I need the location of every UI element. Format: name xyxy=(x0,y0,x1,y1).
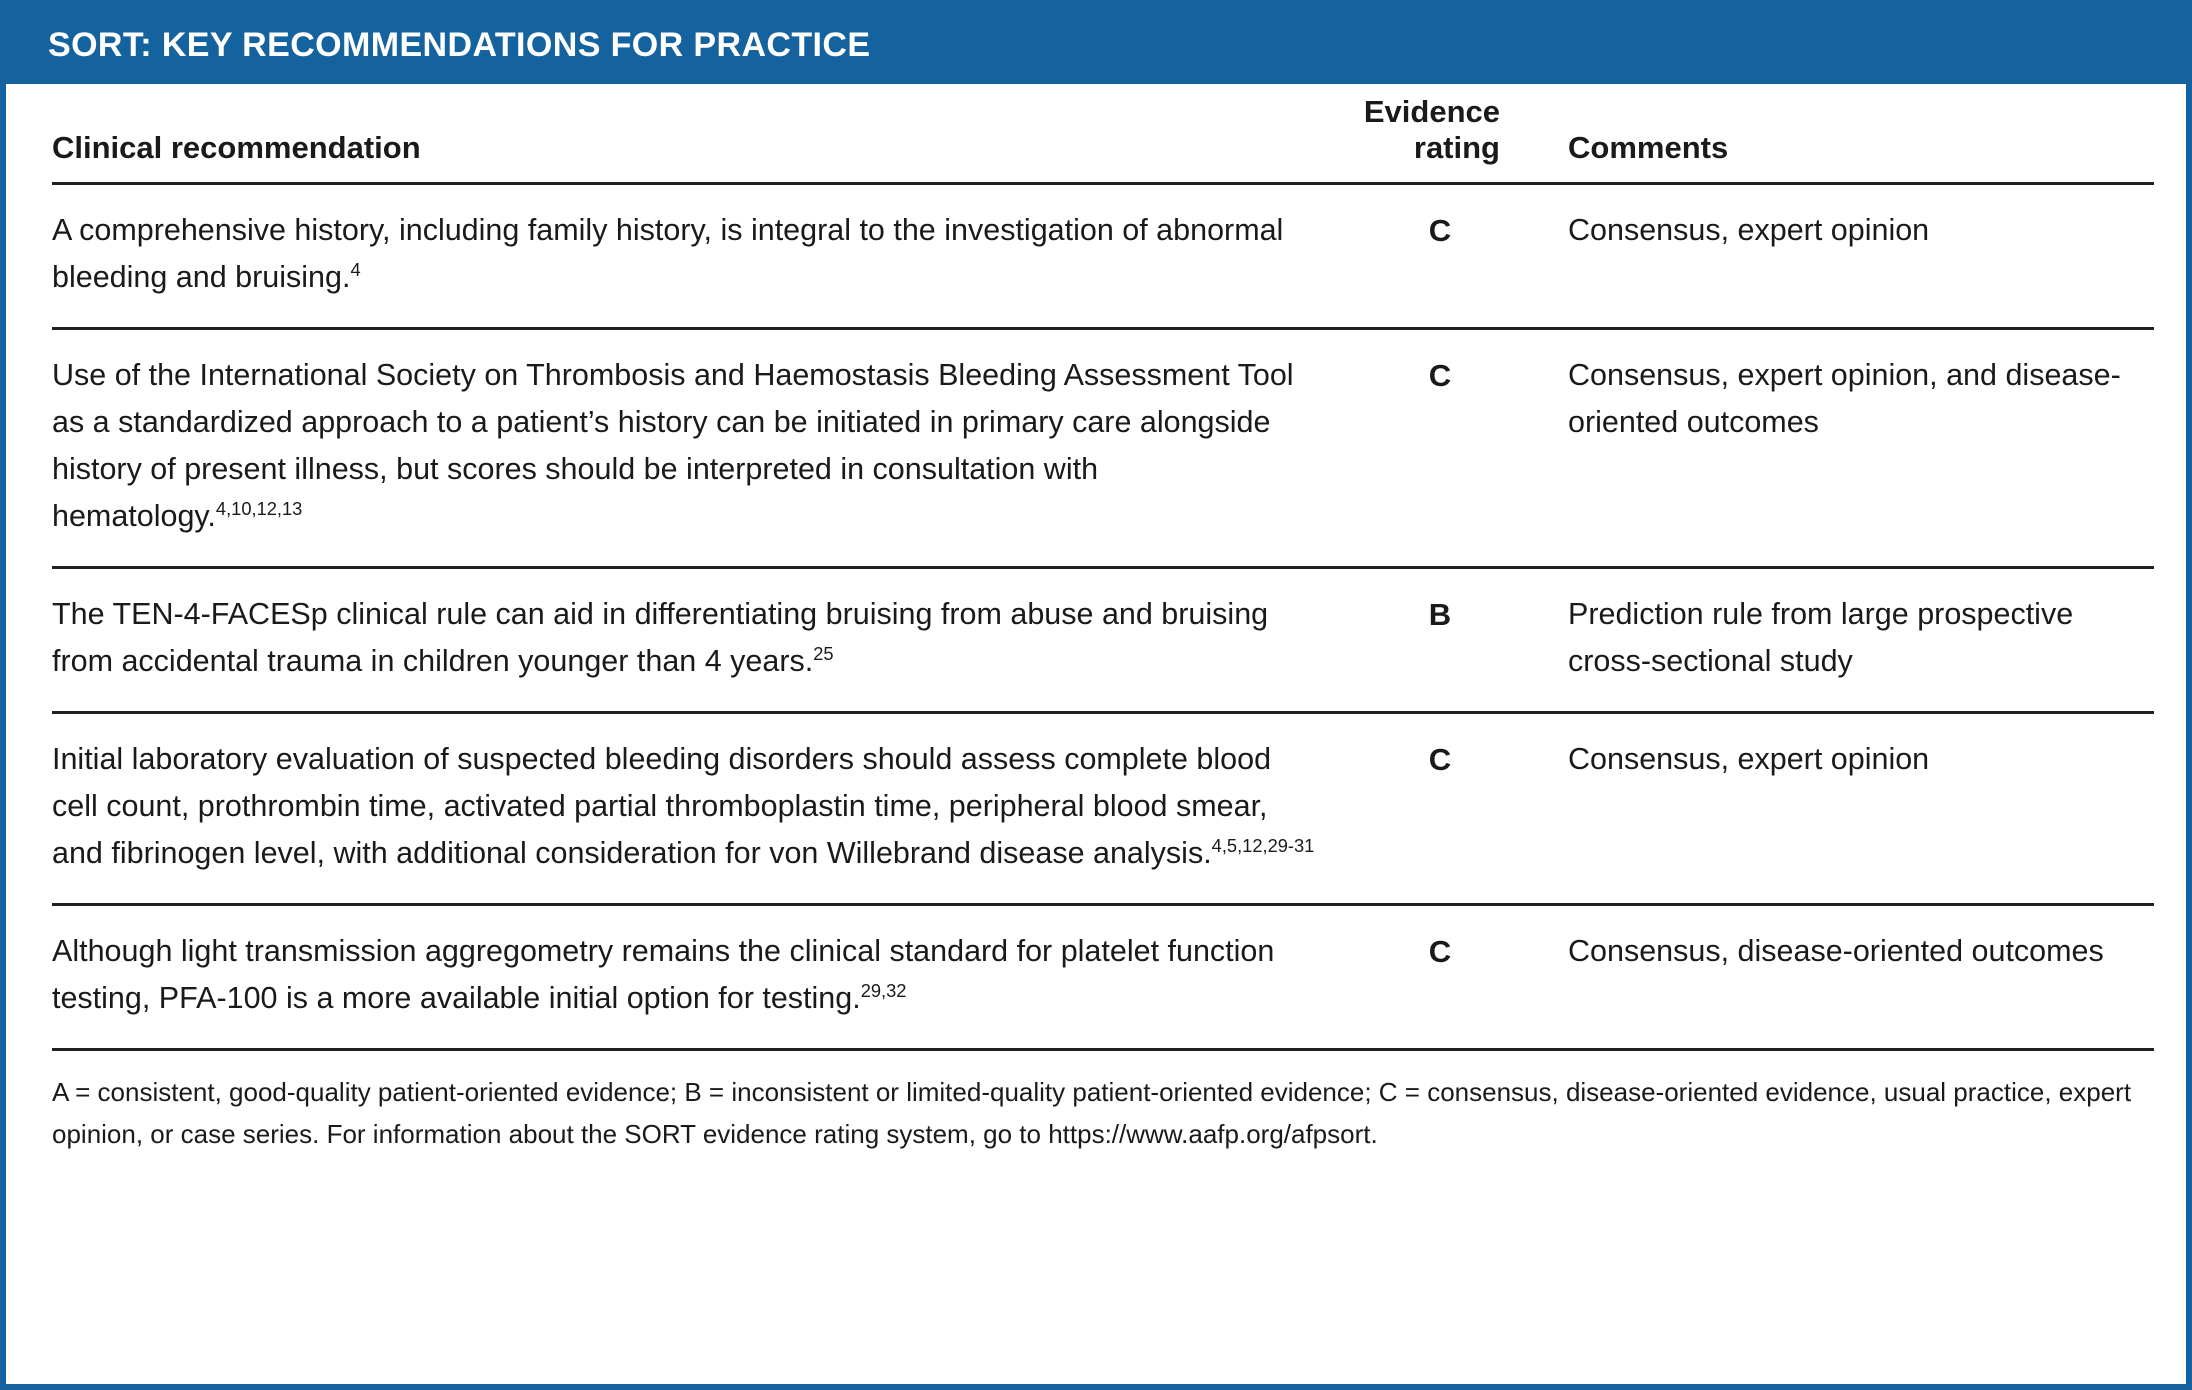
reference-superscript: 29,32 xyxy=(861,979,907,1000)
column-header-comments: Comments xyxy=(1528,84,2154,184)
cell-comments: Consensus, expert opinion xyxy=(1528,184,2154,329)
cell-evidence-rating: C xyxy=(1352,184,1528,329)
cell-evidence-rating: C xyxy=(1352,904,1528,1049)
cell-recommendation: Use of the International Society on Thro… xyxy=(52,328,1352,567)
table-rows: A comprehensive history, including famil… xyxy=(52,184,2154,1050)
table-header-row: Clinical recommendation Evidence rating … xyxy=(52,84,2154,184)
column-header-evidence-rating-line2: rating xyxy=(1414,130,1500,165)
cell-recommendation: Although light transmission aggregometry… xyxy=(52,904,1352,1049)
table-footnote: A = consistent, good-quality patient-ori… xyxy=(52,1051,2142,1155)
table-row: Although light transmission aggregometry… xyxy=(52,904,2154,1049)
cell-recommendation: The TEN-4-FACESp clinical rule can aid i… xyxy=(52,567,1352,712)
recommendations-grid: Clinical recommendation Evidence rating … xyxy=(52,84,2154,1051)
table-title-bar: SORT: Key Recommendations for Practice xyxy=(6,6,2186,84)
cell-comments: Consensus, expert opinion, and disease-o… xyxy=(1528,328,2154,567)
column-header-recommendation: Clinical recommendation xyxy=(52,84,1352,184)
recommendation-text: A comprehensive history, including famil… xyxy=(52,213,1283,294)
reference-superscript: 25 xyxy=(813,643,833,664)
table-body: Clinical recommendation Evidence rating … xyxy=(6,84,2186,1155)
column-header-evidence-rating-line1: Evidence xyxy=(1364,94,1500,129)
table-row: Initial laboratory evaluation of suspect… xyxy=(52,712,2154,904)
reference-superscript: 4 xyxy=(350,259,360,280)
page-title: SORT: Key Recommendations for Practice xyxy=(48,26,870,65)
reference-superscript: 4,5,12,29-31 xyxy=(1212,835,1315,856)
table-row: Use of the International Society on Thro… xyxy=(52,328,2154,567)
table-row: The TEN-4-FACESp clinical rule can aid i… xyxy=(52,567,2154,712)
cell-comments: Prediction rule from large prospective c… xyxy=(1528,567,2154,712)
recommendation-text: Although light transmission aggregometry… xyxy=(52,934,1274,1015)
cell-evidence-rating: B xyxy=(1352,567,1528,712)
cell-comments: Consensus, expert opinion xyxy=(1528,712,2154,904)
cell-evidence-rating: C xyxy=(1352,712,1528,904)
recommendation-text: The TEN-4-FACESp clinical rule can aid i… xyxy=(52,597,1268,678)
table-row: A comprehensive history, including famil… xyxy=(52,184,2154,329)
cell-evidence-rating: C xyxy=(1352,328,1528,567)
recommendation-text: Initial laboratory evaluation of suspect… xyxy=(52,742,1271,870)
cell-recommendation: Initial laboratory evaluation of suspect… xyxy=(52,712,1352,904)
cell-comments: Consensus, disease-oriented outcomes xyxy=(1528,904,2154,1049)
cell-recommendation: A comprehensive history, including famil… xyxy=(52,184,1352,329)
reference-superscript: 4,10,12,13 xyxy=(216,498,302,519)
sort-recommendations-table: SORT: Key Recommendations for Practice C… xyxy=(0,0,2192,1390)
column-header-evidence-rating: Evidence rating xyxy=(1352,84,1528,184)
